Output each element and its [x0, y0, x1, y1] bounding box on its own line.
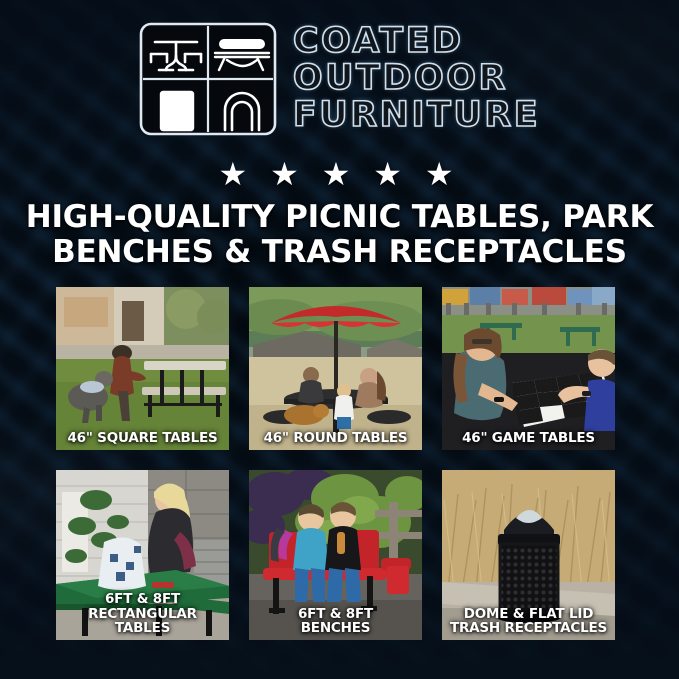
banner-content: COATED OUTDOOR FURNITURE ★ ★ ★ ★ ★ HIGH-… — [0, 0, 679, 679]
product-card-benches[interactable]: 6FT & 8FT BENCHES — [249, 470, 422, 640]
product-card-trash-receptacles[interactable]: DOME & FLAT LID TRASH RECEPTACLES — [442, 470, 615, 640]
product-card-square-tables[interactable]: 46" SQUARE TABLES — [56, 287, 229, 450]
product-caption: 6FT & 8FT RECTANGULAR TABLES — [56, 592, 229, 636]
headline-line-1: HIGH-QUALITY PICNIC TABLES, PARK — [26, 199, 654, 235]
four-quadrant-outdoor-furniture-icon — [139, 22, 277, 136]
caption-line-1: 46" SQUARE TABLES — [67, 430, 217, 446]
headline-line-2: BENCHES & TRASH RECEPTACLES — [0, 235, 679, 270]
photo-square-tables — [56, 287, 229, 450]
product-caption: 46" ROUND TABLES — [249, 431, 422, 446]
caption-line-2: RECTANGULAR TABLES — [59, 607, 226, 636]
caption-line-2: BENCHES — [252, 621, 419, 636]
product-caption: 46" SQUARE TABLES — [56, 431, 229, 446]
caption-line-1: 6FT & 8FT — [105, 591, 180, 607]
product-card-rectangular-tables[interactable]: 6FT & 8FT RECTANGULAR TABLES — [56, 470, 229, 640]
five-star-rating: ★ ★ ★ ★ ★ — [0, 158, 679, 190]
photo-round-tables — [249, 287, 422, 450]
photo-game-tables — [442, 287, 615, 450]
product-caption: DOME & FLAT LID TRASH RECEPTACLES — [442, 607, 615, 636]
caption-line-2: TRASH RECEPTACLES — [445, 621, 612, 636]
brand-word-furniture: FURNITURE — [293, 98, 540, 134]
caption-line-1: 46" GAME TABLES — [462, 430, 595, 446]
caption-line-1: 46" ROUND TABLES — [264, 430, 408, 446]
brand-logo: COATED OUTDOOR FURNITURE — [0, 22, 679, 136]
page-title: HIGH-QUALITY PICNIC TABLES, PARK BENCHES… — [0, 200, 679, 269]
product-caption: 46" GAME TABLES — [442, 431, 615, 446]
product-card-game-tables[interactable]: 46" GAME TABLES — [442, 287, 615, 450]
product-grid: 46" SQUARE TABLES — [56, 287, 623, 633]
brand-word-coated: COATED — [293, 24, 540, 60]
brand-word-outdoor: OUTDOOR — [293, 61, 540, 97]
brand-wordmark: COATED OUTDOOR FURNITURE — [293, 24, 540, 133]
product-caption: 6FT & 8FT BENCHES — [249, 607, 422, 636]
product-card-round-tables[interactable]: 46" ROUND TABLES — [249, 287, 422, 450]
